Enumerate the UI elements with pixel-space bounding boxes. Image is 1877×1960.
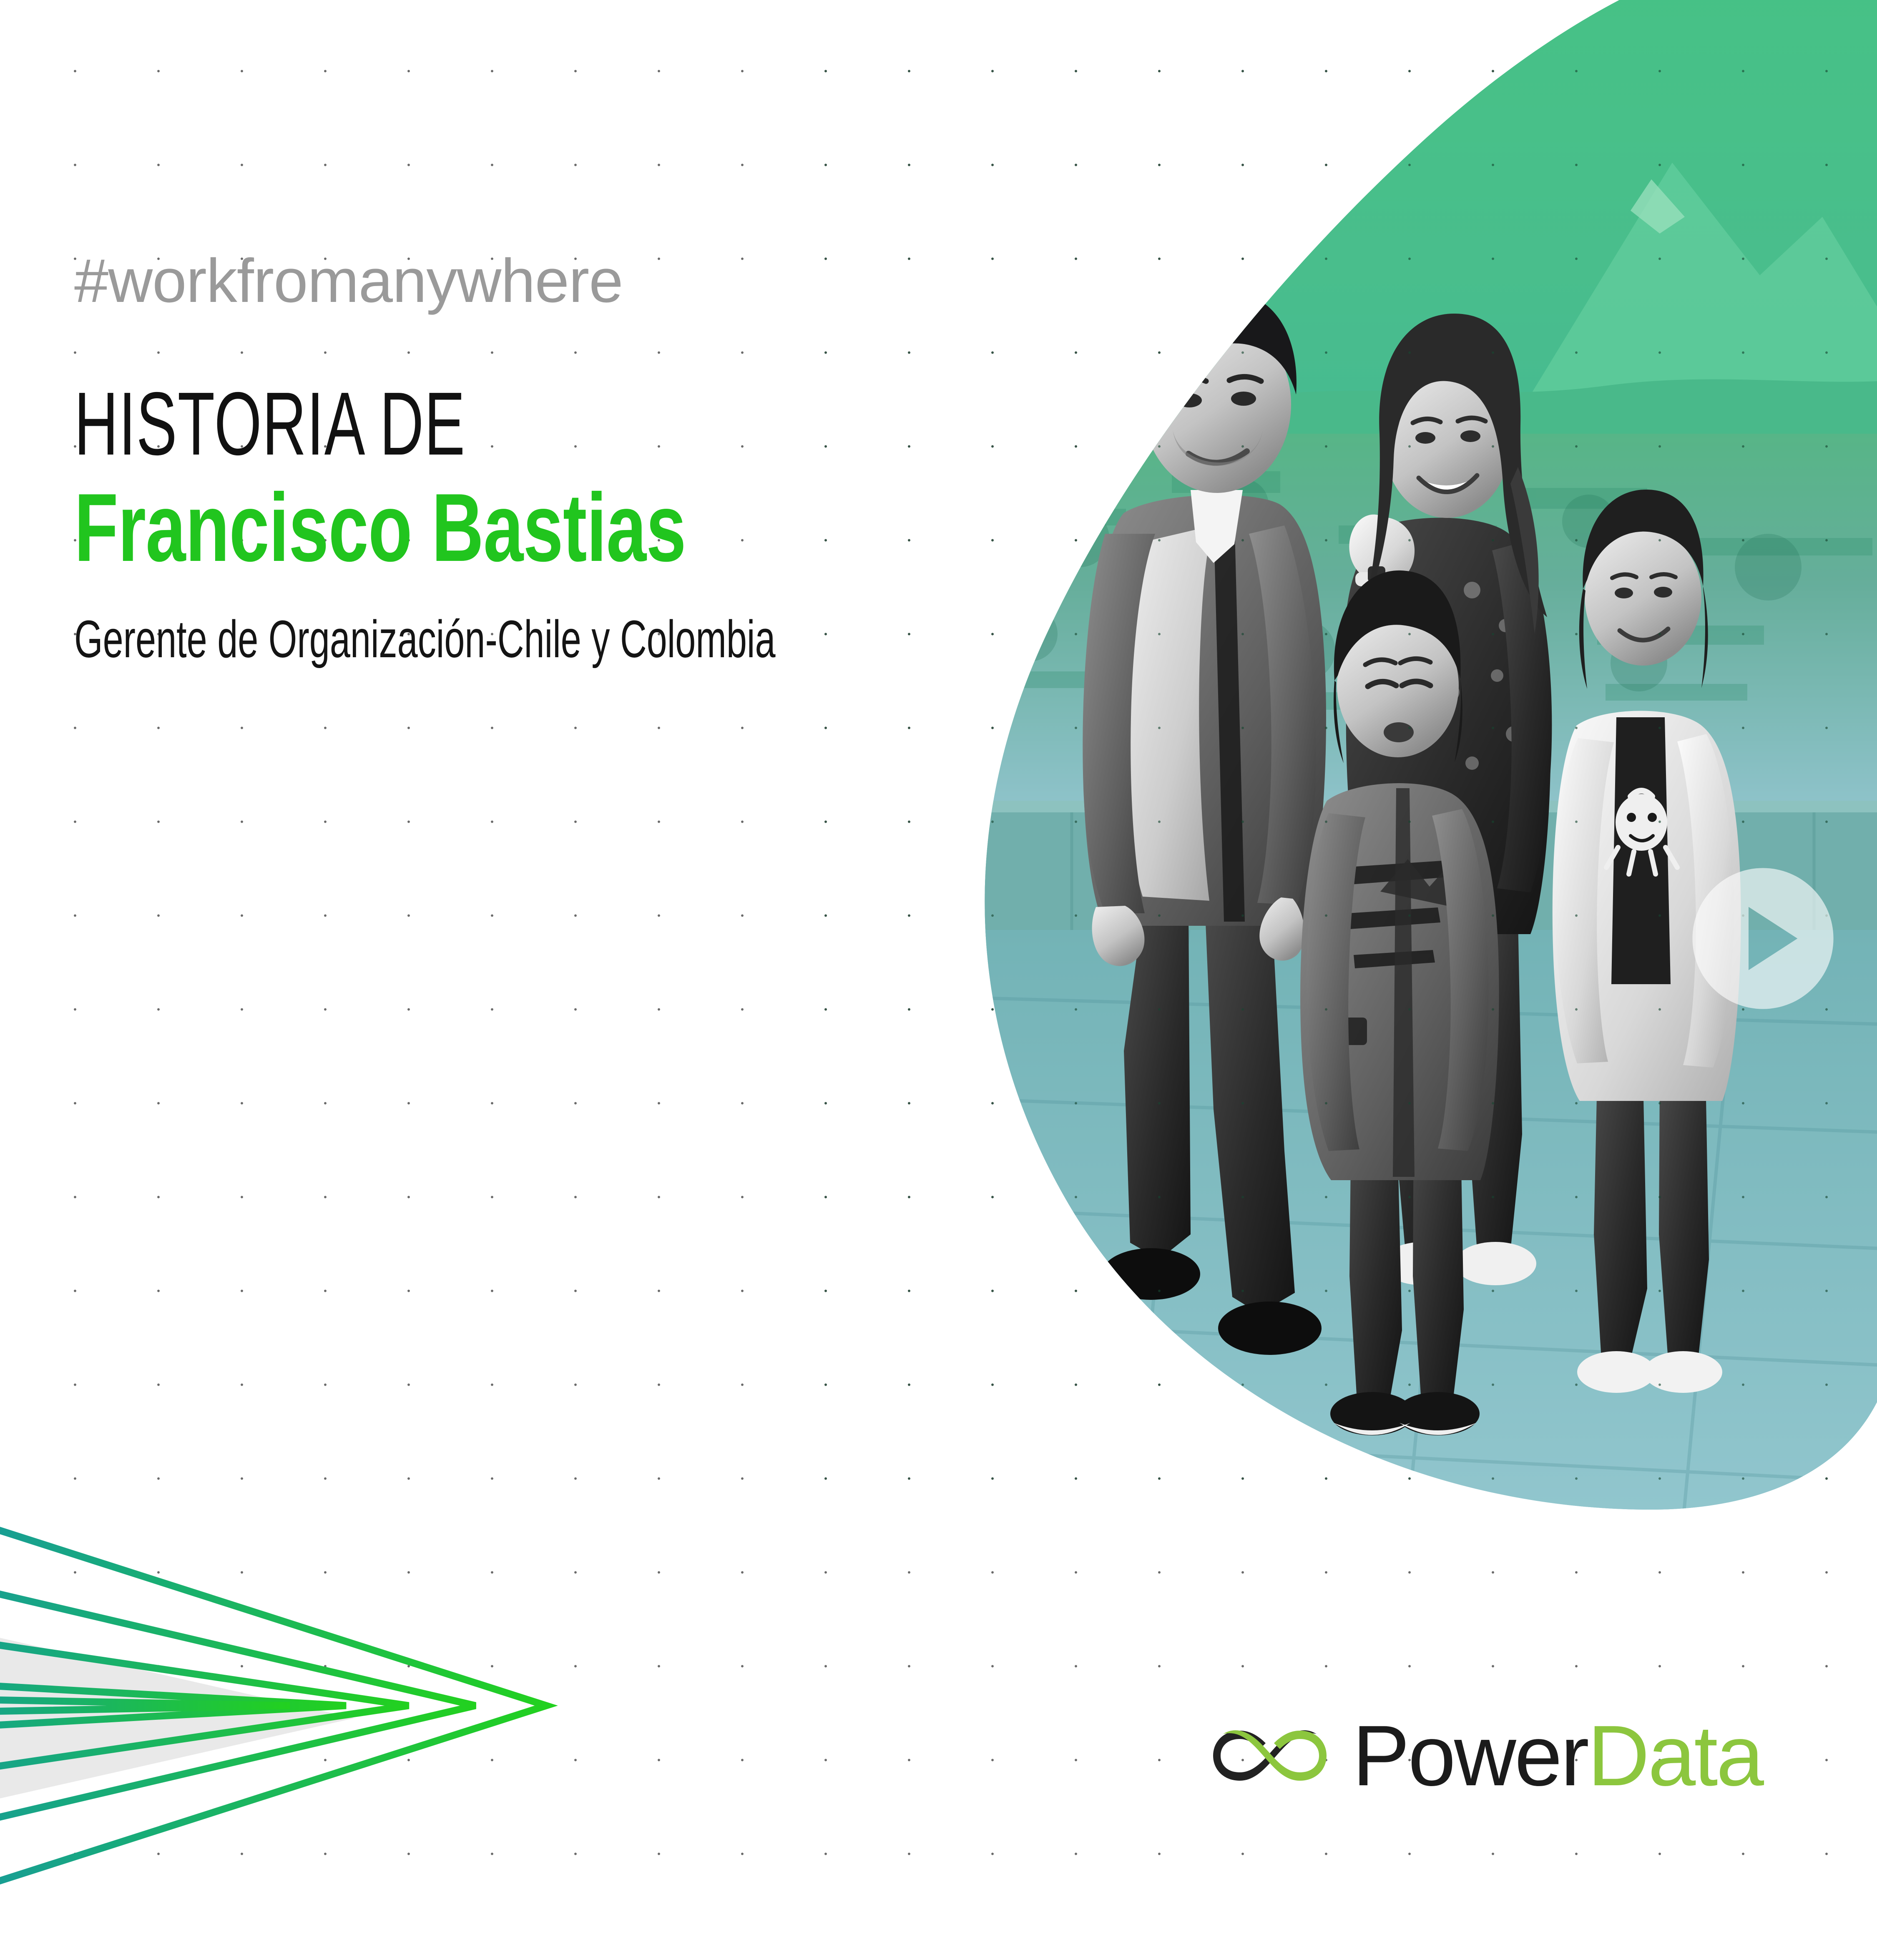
double-infinity-icon	[1207, 1714, 1332, 1797]
hero-media	[813, 0, 1877, 1526]
play-video-button[interactable]	[1691, 867, 1835, 1010]
headline-block: #workfromanywhere HISTORIA DE Francisco …	[74, 250, 1117, 668]
logo-word-power: Power	[1352, 1713, 1588, 1799]
powerdata-logo: PowerData	[1207, 1693, 1816, 1818]
logo-wordmark: PowerData	[1352, 1713, 1762, 1799]
headline-kicker: HISTORIA DE	[74, 379, 783, 468]
play-icon[interactable]	[1691, 867, 1835, 1010]
hashtag-label: #workfromanywhere	[74, 250, 1117, 312]
person-name: Francisco Bastias	[74, 477, 851, 578]
person-role: Gerente de Organización-Chile y Colombia	[74, 611, 804, 668]
logo-word-data: Data	[1588, 1713, 1762, 1799]
chevron-lines	[0, 1426, 546, 1960]
chevron-decoration	[0, 1251, 634, 1960]
